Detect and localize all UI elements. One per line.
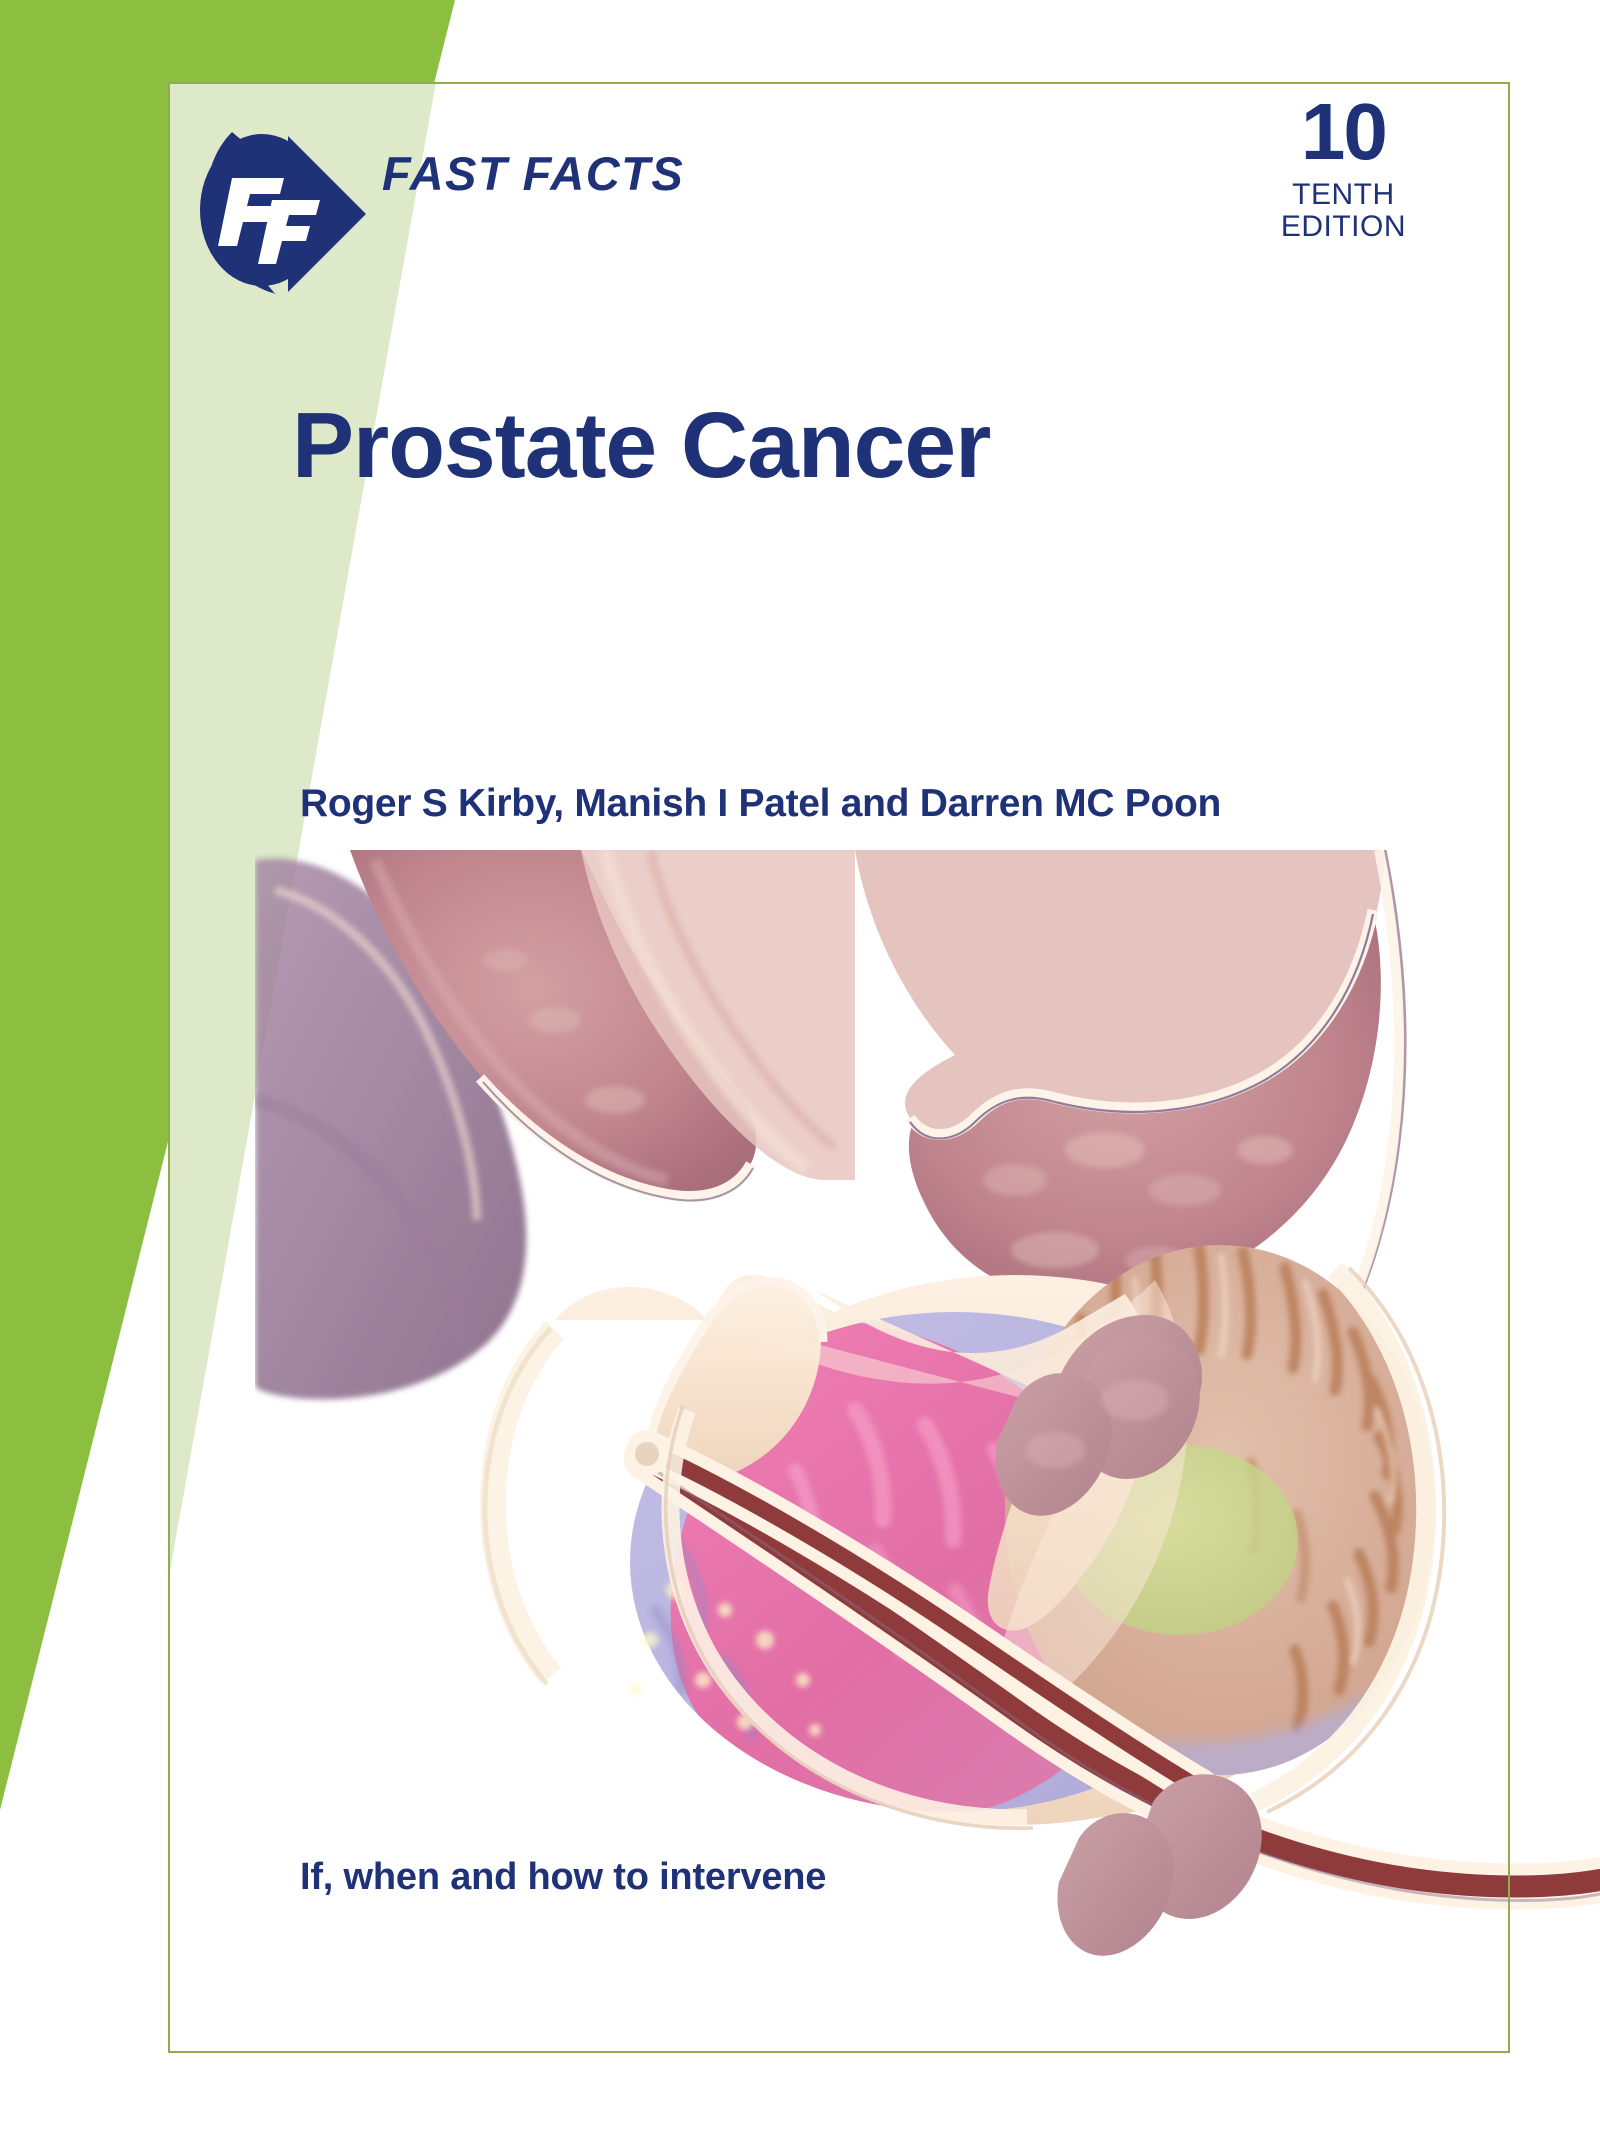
puboprostatic-ligament (485, 1328, 555, 1684)
book-cover: FAST FACTS 10 TENTH EDITION Prostate Can… (0, 0, 1600, 2134)
book-title: Prostate Cancer (292, 392, 990, 499)
prostate-cancer-cross-section-illustration (255, 850, 1600, 1980)
book-authors: Roger S Kirby, Manish I Patel and Darren… (300, 782, 1221, 826)
edition-ordinal: TENTH (1281, 180, 1406, 210)
edition-badge: 10 TENTH EDITION (1281, 92, 1406, 242)
edition-word: EDITION (1281, 212, 1406, 242)
book-tagline: If, when and how to intervene (300, 1856, 826, 1899)
fast-facts-ff-arrow-logo-icon (188, 110, 388, 320)
edition-number: 10 (1281, 92, 1406, 172)
brand-wordmark: FAST FACTS (382, 146, 684, 201)
